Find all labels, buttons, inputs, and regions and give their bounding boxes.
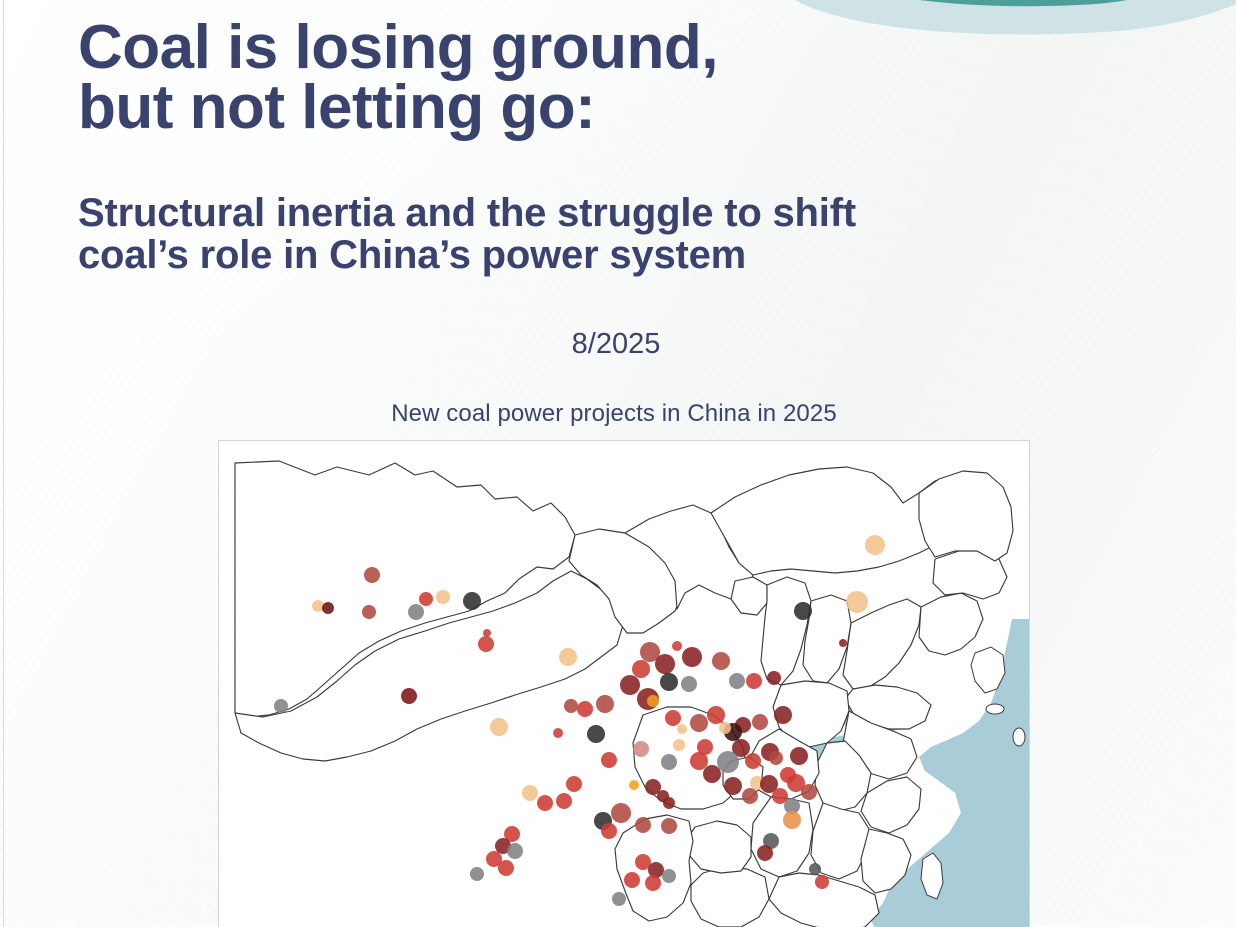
page-subtitle: Structural inertia and the struggle to s…: [78, 192, 1178, 277]
map-provinces: [235, 461, 1013, 927]
headline-line-1: Coal is losing ground,: [78, 13, 718, 82]
china-map-chart: .land { fill:#ffffff; stroke:#3b3b3b; st…: [218, 440, 1030, 927]
chart-title: New coal power projects in China in 2025: [0, 400, 1232, 428]
subhead-line-1: Structural inertia and the struggle to s…: [78, 191, 856, 235]
china-map-svg: .land { fill:#ffffff; stroke:#3b3b3b; st…: [219, 441, 1029, 927]
slide-canvas: Coal is losing ground, but not letting g…: [0, 0, 1236, 927]
headline-line-2: but not letting go:: [78, 78, 1168, 138]
subhead-line-2: coal’s role in China’s power system: [78, 234, 1178, 276]
slide-date: 8/2025: [0, 328, 1234, 361]
page-title: Coal is losing ground, but not letting g…: [78, 18, 1168, 137]
left-edge-rule: [3, 0, 4, 927]
